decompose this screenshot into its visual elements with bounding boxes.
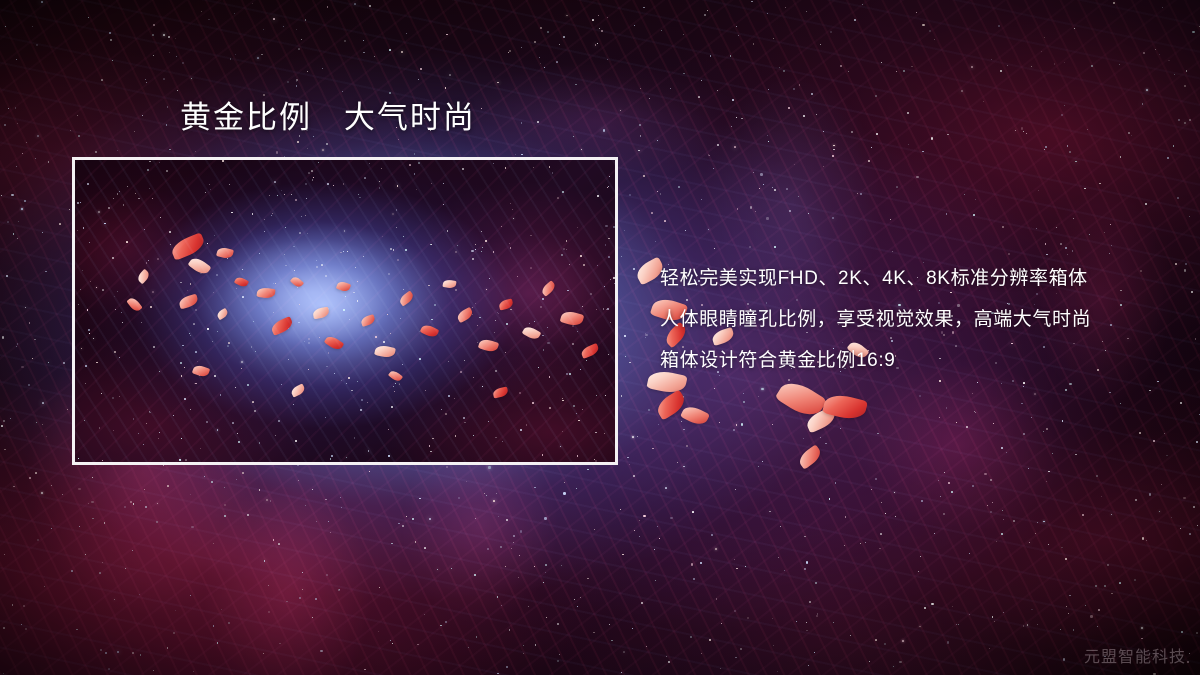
petal (178, 294, 199, 310)
watermark: 元盟智能科技 (1084, 643, 1186, 667)
petal (775, 376, 828, 422)
petal (540, 280, 557, 297)
petal (312, 307, 329, 320)
body-line: 轻松完美实现FHD、2K、4K、8K标准分辨率箱体 (660, 258, 1180, 299)
petal (492, 387, 509, 399)
petal (398, 290, 415, 306)
photo-starfield (75, 160, 615, 462)
petal (804, 407, 838, 434)
petal (169, 232, 207, 260)
body-line: 箱体设计符合黄金比例16:9 (660, 340, 1180, 381)
petal (216, 246, 234, 260)
petal (580, 343, 600, 359)
petal (270, 316, 295, 336)
petal (796, 444, 824, 469)
body-line: 人体眼睛瞳孔比例，享受视觉效果，高端大气时尚 (660, 299, 1180, 340)
petal (822, 391, 868, 423)
petal (126, 296, 142, 313)
petal (256, 287, 275, 299)
petal (324, 334, 345, 352)
petal (192, 364, 210, 379)
petal (420, 323, 440, 339)
petal (388, 369, 403, 383)
petal (234, 275, 249, 288)
petal (290, 383, 307, 397)
framed-photo (72, 157, 618, 465)
petal (290, 275, 304, 289)
petal (478, 337, 499, 353)
petal (654, 389, 689, 420)
petal (336, 280, 351, 293)
petal (442, 279, 456, 289)
petal (680, 403, 710, 428)
petal (187, 255, 211, 277)
petal (456, 307, 475, 323)
petal (374, 344, 396, 359)
photo-image (75, 160, 615, 462)
petal (360, 314, 376, 327)
petal (216, 308, 230, 320)
petal (560, 309, 585, 328)
petal (136, 269, 151, 285)
petal (522, 324, 542, 341)
petal (498, 298, 514, 310)
body-text-block: 轻松完美实现FHD、2K、4K、8K标准分辨率箱体 人体眼睛瞳孔比例，享受视觉效… (660, 258, 1180, 381)
presentation-slide: 黄金比例 大气时尚 轻松完美实现FHD、2K、4K、8K标准分辨率箱体 人体眼睛… (0, 0, 1200, 675)
page-title: 黄金比例 大气时尚 (180, 101, 476, 135)
